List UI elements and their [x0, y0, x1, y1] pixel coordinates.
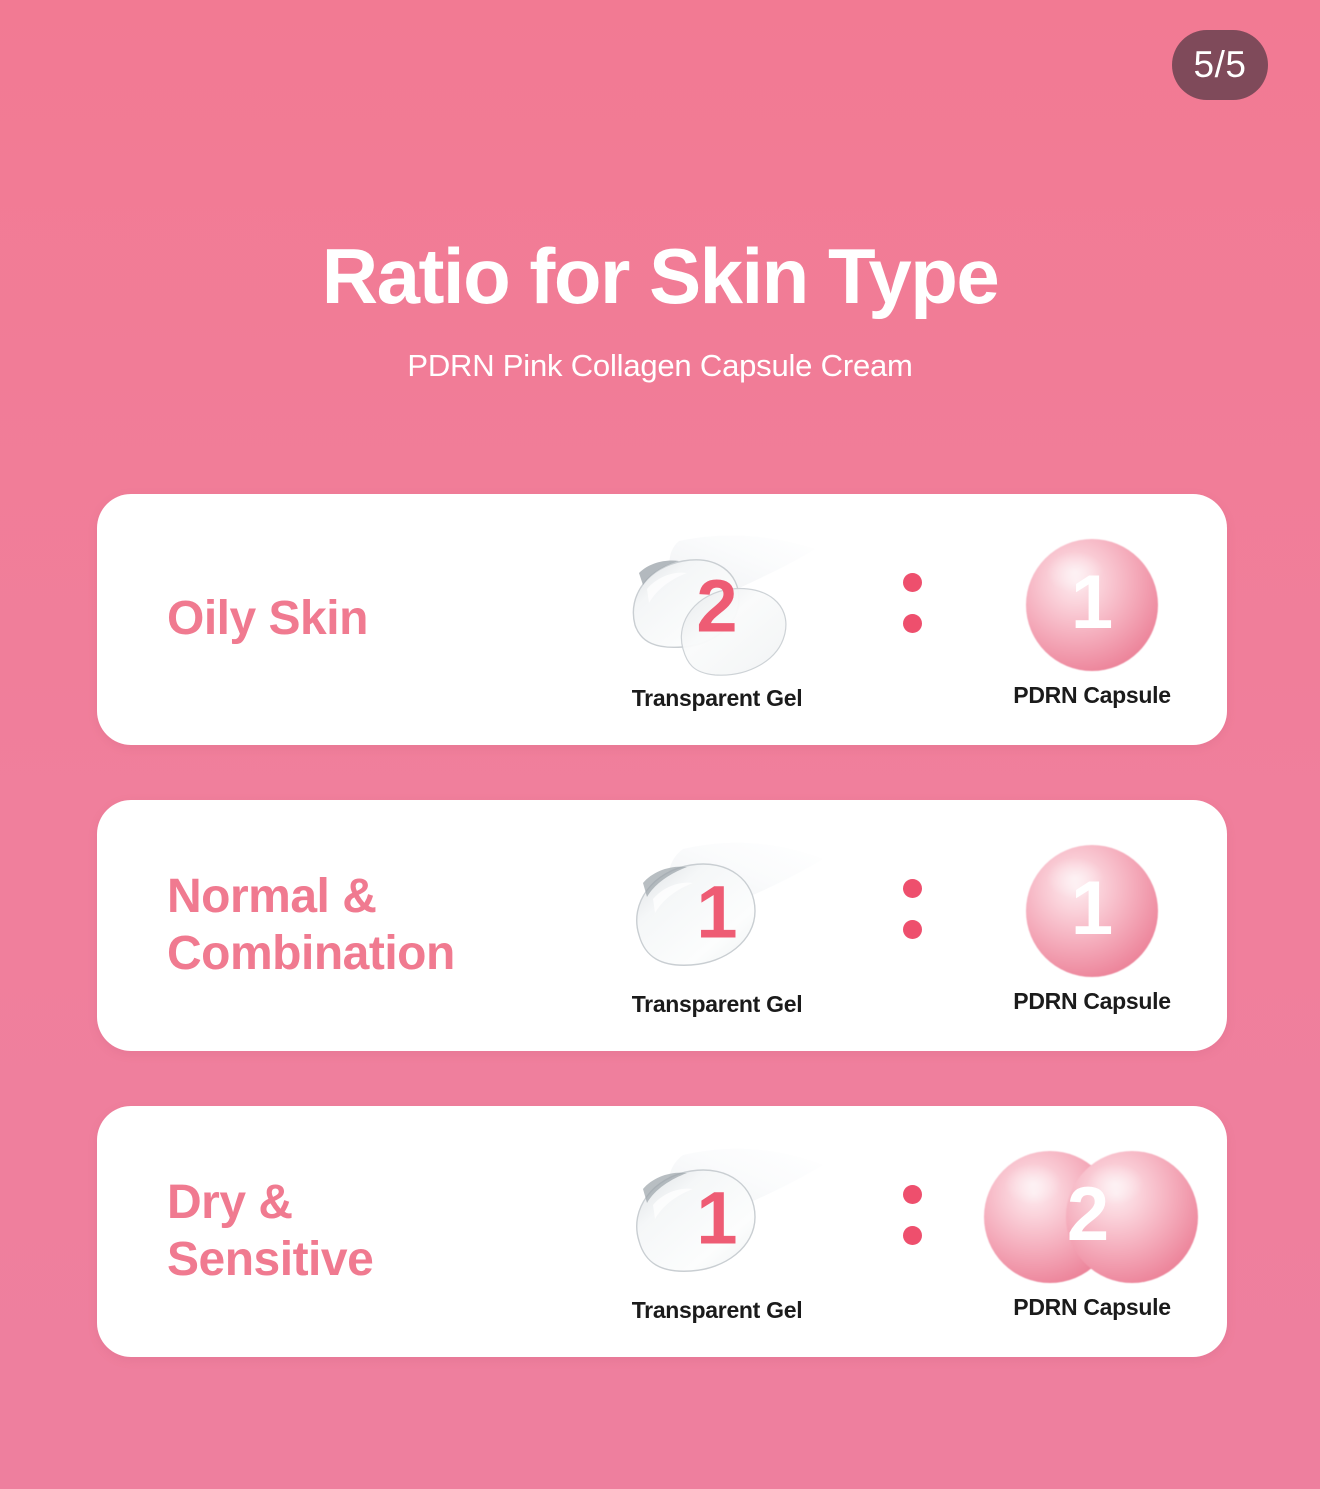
colon-dot-top: [903, 879, 922, 898]
promo-page: 5/5 Ratio for Skin Type PDRN Pink Collag…: [0, 0, 1320, 1489]
colon-dot-top: [903, 1185, 922, 1204]
page-indicator-badge: 5/5: [1172, 30, 1268, 100]
page-subtitle: PDRN Pink Collagen Capsule Cream: [0, 348, 1320, 384]
capsule-ratio-value: 2: [1067, 1177, 1109, 1253]
colon-dot-bottom: [903, 920, 922, 939]
skin-type-line: Oily Skin: [167, 591, 567, 648]
skin-type-line: Sensitive: [167, 1232, 567, 1289]
colon-dot-top: [903, 573, 922, 592]
gel-ratio-value: 2: [696, 570, 737, 644]
skin-type-line: Combination: [167, 926, 567, 983]
ratio-card: Oily Skin: [97, 494, 1227, 745]
skin-type-label: Oily Skin: [97, 591, 567, 648]
skin-type-line: Dry &: [167, 1175, 567, 1232]
pdrn-capsule-icon: 2: [962, 1142, 1222, 1292]
gel-swatch-icon: 2: [587, 533, 847, 683]
gel-ratio-value: 1: [696, 876, 737, 950]
gel-column: 2 Transparent Gel: [567, 494, 867, 745]
pdrn-capsule-icon: 1: [962, 530, 1222, 680]
capsule-caption: PDRN Capsule: [1013, 988, 1170, 1015]
colon-dots-icon: [867, 494, 957, 745]
ratio-zone: 2 Transparent Gel 1 PDRN Capsule: [567, 494, 1227, 745]
capsule-column: 1 PDRN Capsule: [957, 800, 1227, 1051]
gel-caption: Transparent Gel: [632, 1297, 803, 1324]
colon-dot-bottom: [903, 1226, 922, 1245]
ratio-card-list: Oily Skin: [97, 494, 1227, 1357]
colon-dot-bottom: [903, 614, 922, 633]
gel-caption: Transparent Gel: [632, 685, 803, 712]
page-indicator-label: 5/5: [1194, 44, 1247, 86]
ratio-zone: 1 Transparent Gel 2 PDRN Capsule: [567, 1106, 1227, 1357]
gel-caption: Transparent Gel: [632, 991, 803, 1018]
capsule-column: 1 PDRN Capsule: [957, 494, 1227, 745]
ratio-zone: 1 Transparent Gel 1 PDRN Capsule: [567, 800, 1227, 1051]
capsule-ratio-value: 1: [1071, 565, 1113, 641]
gel-swatch-icon: 1: [587, 1145, 847, 1295]
colon-dots-icon: [867, 1106, 957, 1357]
gel-swatch-icon: 1: [587, 839, 847, 989]
gel-column: 1 Transparent Gel: [567, 800, 867, 1051]
capsule-column: 2 PDRN Capsule: [957, 1106, 1227, 1357]
ratio-card: Dry & Sensitive: [97, 1106, 1227, 1357]
gel-ratio-value: 1: [696, 1182, 737, 1256]
header: Ratio for Skin Type PDRN Pink Collagen C…: [0, 236, 1320, 384]
skin-type-label: Normal & Combination: [97, 869, 567, 982]
page-title: Ratio for Skin Type: [0, 236, 1320, 318]
capsule-caption: PDRN Capsule: [1013, 682, 1170, 709]
skin-type-label: Dry & Sensitive: [97, 1175, 567, 1288]
pdrn-capsule-icon: 1: [962, 836, 1222, 986]
gel-column: 1 Transparent Gel: [567, 1106, 867, 1357]
colon-dots-icon: [867, 800, 957, 1051]
ratio-card: Normal & Combination: [97, 800, 1227, 1051]
capsule-ratio-value: 1: [1071, 871, 1113, 947]
skin-type-line: Normal &: [167, 869, 567, 926]
capsule-caption: PDRN Capsule: [1013, 1294, 1170, 1321]
